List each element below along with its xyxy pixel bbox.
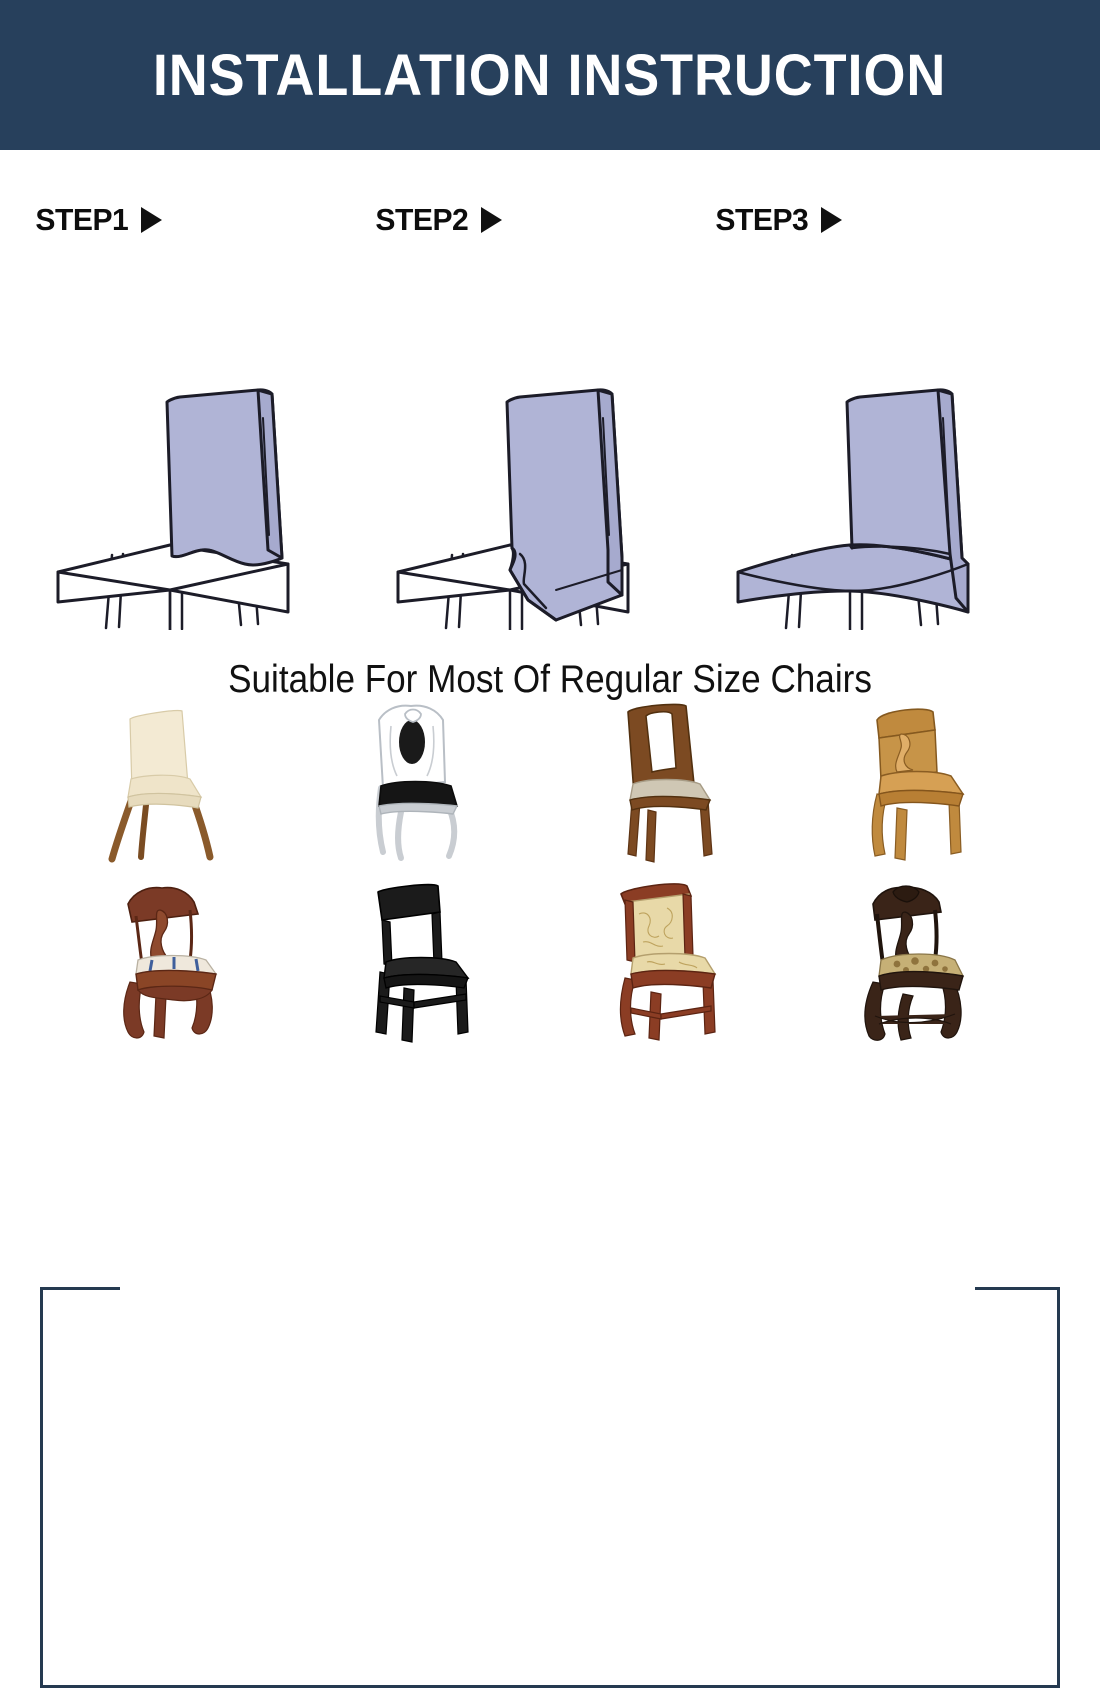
chair-thumb-oak-urn-splat-chair bbox=[798, 690, 1046, 870]
chair-thumb-cream-upholstered-chair bbox=[55, 690, 303, 870]
step-1-label-text: STEP1 bbox=[35, 202, 128, 238]
chair-thumb-chippendale-mahogany-chair bbox=[55, 870, 303, 1050]
step-3: STEP3 bbox=[700, 150, 1040, 630]
header-banner: INSTALLATION INSTRUCTION bbox=[0, 0, 1100, 150]
step-2-label: STEP2 bbox=[374, 202, 502, 238]
chair-thumb-black-wood-chair bbox=[303, 870, 551, 1050]
chair-thumb-silver-baroque-chair bbox=[303, 690, 551, 870]
step-3-label: STEP3 bbox=[714, 202, 842, 238]
suitable-frame bbox=[40, 1287, 1060, 1688]
triangle-right-icon bbox=[481, 207, 502, 233]
step-1-label: STEP1 bbox=[34, 202, 162, 238]
triangle-right-icon bbox=[141, 207, 162, 233]
chair-thumb-walnut-slot-back-chair bbox=[550, 690, 798, 870]
step-2-label-text: STEP2 bbox=[375, 202, 468, 238]
suitable-section: Suitable For Most Of Regular Size Chairs bbox=[0, 630, 1100, 1065]
frame-top-right-segment bbox=[975, 1287, 1060, 1290]
chair-thumb-mahogany-floral-chair bbox=[550, 870, 798, 1050]
step-2: STEP2 bbox=[360, 150, 700, 630]
steps-section: STEP1 ST bbox=[0, 150, 1100, 630]
triangle-right-icon bbox=[821, 207, 842, 233]
chair-thumb-dark-baroque-tapestry-chair bbox=[798, 870, 1046, 1050]
chair-thumbnail-grid bbox=[55, 690, 1045, 1050]
step-3-label-text: STEP3 bbox=[715, 202, 808, 238]
page-title: INSTALLATION INSTRUCTION bbox=[153, 42, 946, 109]
step-1: STEP1 bbox=[20, 150, 360, 630]
frame-top-left-segment bbox=[40, 1287, 120, 1290]
